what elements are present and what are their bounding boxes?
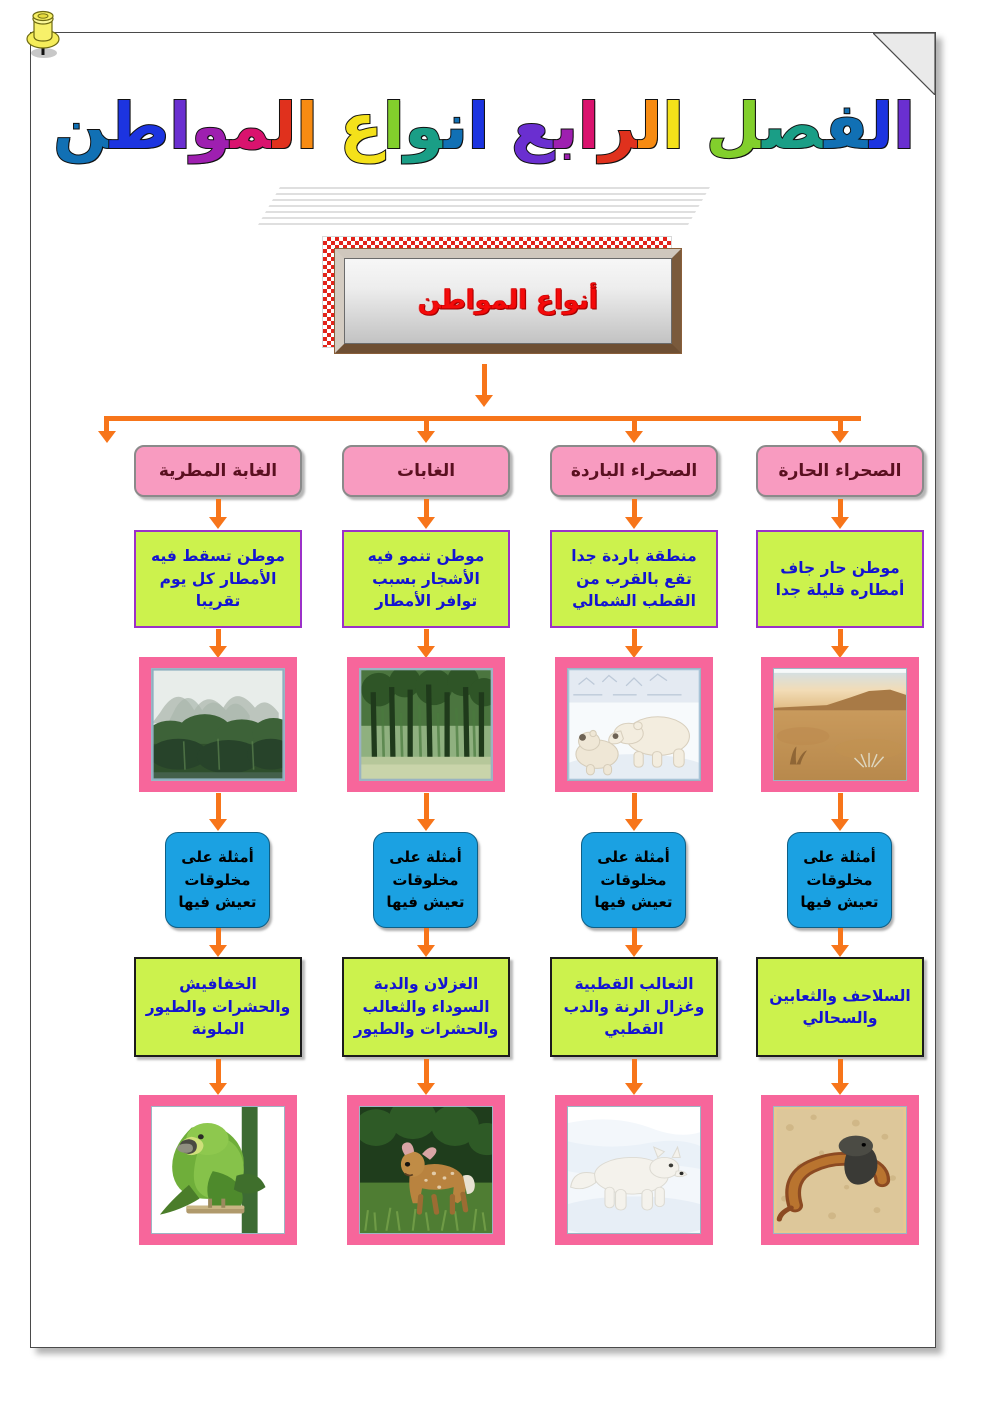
arctic-fox-photo (567, 1106, 701, 1234)
polar-bears-photo (567, 668, 701, 781)
deer-photo (359, 1106, 493, 1234)
habitat-box[interactable]: الغابة المطرية (134, 445, 302, 497)
green-parrot-photo (151, 1106, 285, 1234)
examples-label-box: أمثلة على مخلوقات تعيش فيها (373, 832, 478, 928)
habitat-photo-frame (761, 657, 919, 792)
habitat-box[interactable]: الغابات (342, 445, 510, 497)
habitat-photo-frame (347, 657, 505, 792)
habitat-photo-frame (139, 657, 297, 792)
animal-photo-frame (347, 1095, 505, 1245)
animal-photo-frame (555, 1095, 713, 1245)
connector-bus (104, 416, 861, 421)
wordart-title: الفصل الرابع انواع المواطن (53, 91, 915, 163)
page-corner-fold-icon (873, 33, 935, 95)
habitat-description-box: موطن تسقط فيه الأمطار كل يوم تقريبا (134, 530, 302, 628)
habitat-description-box: موطن حار جاف أمطاره قليلة جدا (756, 530, 924, 628)
habitat-photo-frame (555, 657, 713, 792)
examples-label-box: أمثلة على مخلوقات تعيش فيها (581, 832, 686, 928)
habitat-box[interactable]: الصحراء الباردة (550, 445, 718, 497)
main-title-text: أنواع المواطن (344, 285, 672, 315)
animals-list-box: الخفافيش والحشرات والطيور الملونة (134, 957, 302, 1057)
page-sheet: الفصل الرابع انواع المواطن أنواع المواطن… (30, 32, 936, 1348)
animals-list-box: الغزلان والدبة السوداء والثعالب والحشرات… (342, 957, 510, 1057)
pine-forest-photo (359, 668, 493, 781)
main-title-box: أنواع المواطن (322, 236, 692, 364)
page-title: الفصل الرابع انواع المواطن (31, 91, 937, 231)
habitat-description-box: منطقة باردة جدا تقع بالقرب من القطب الشم… (550, 530, 718, 628)
examples-label-box: أمثلة على مخلوقات تعيش فيها (787, 832, 892, 928)
cobra-snake-photo (773, 1106, 907, 1234)
beveled-frame: أنواع المواطن (334, 248, 682, 354)
title-shadow-decoration (258, 187, 710, 225)
hot-desert-photo (773, 668, 907, 781)
habitat-box[interactable]: الصحراء الحارة (756, 445, 924, 497)
animal-photo-frame (139, 1095, 297, 1245)
rainforest-photo (151, 668, 285, 781)
pushpin-icon (18, 5, 68, 75)
examples-label-box: أمثلة على مخلوقات تعيش فيها (165, 832, 270, 928)
habitat-description-box: موطن تنمو فيه الأشجار بسبب توافر الأمطار (342, 530, 510, 628)
animals-list-box: السلاحف والثعابين والسحالي (756, 957, 924, 1057)
animal-photo-frame (761, 1095, 919, 1245)
animals-list-box: الثعالب القطبية وغزال الرنة والدب القطبي (550, 957, 718, 1057)
